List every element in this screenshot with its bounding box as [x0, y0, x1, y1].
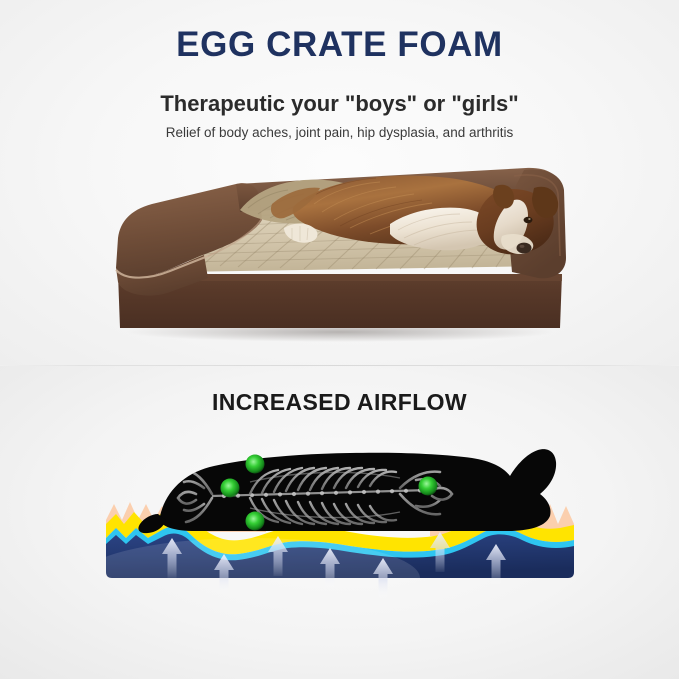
page-title: EGG CRATE FOAM — [0, 26, 679, 65]
airflow-cross-section-diagram — [100, 428, 580, 598]
benefit-description: Relief of body aches, joint pain, hip dy… — [0, 124, 679, 142]
top-panel: EGG CRATE FOAM Therapeutic your "boys" o… — [0, 0, 679, 366]
pressure-point-hip-upper — [246, 455, 265, 474]
dog-nose — [517, 243, 532, 254]
airflow-section-title: INCREASED AIRFLOW — [0, 389, 679, 416]
pressure-point-shoulder — [419, 477, 438, 496]
pressure-point-hip-lower — [221, 479, 240, 498]
dog-bed-photo — [108, 160, 572, 342]
subheading: Therapeutic your "boys" or "girls" — [0, 91, 679, 117]
product-infographic: EGG CRATE FOAM Therapeutic your "boys" o… — [0, 0, 679, 679]
dog-xray-silhouette — [138, 449, 556, 533]
bottom-panel: INCREASED AIRFLOW — [0, 366, 679, 679]
pressure-point-hind-leg — [246, 512, 265, 531]
dog-eye — [524, 217, 533, 223]
